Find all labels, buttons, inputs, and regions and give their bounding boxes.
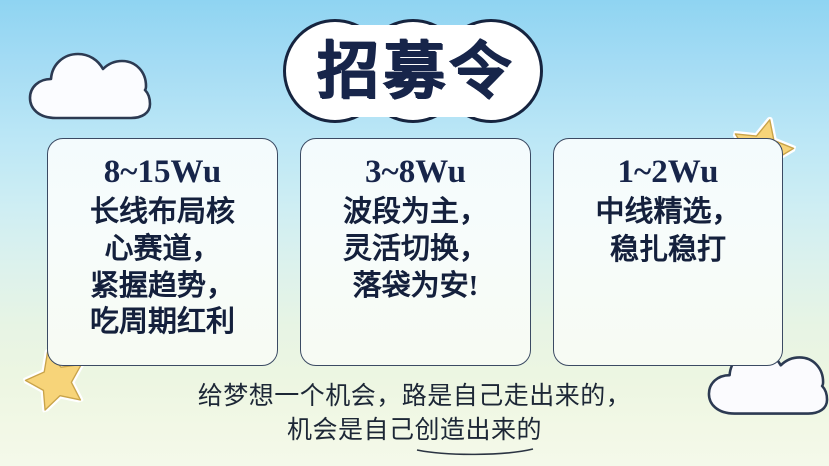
cloud-icon bbox=[26, 44, 152, 134]
card-desc-line: 心赛道， bbox=[104, 233, 220, 265]
slogan-underline bbox=[416, 448, 534, 457]
card-desc-line: 灵活切换， bbox=[343, 233, 488, 265]
tier-card[interactable]: 1~2Wu 中线精选， 稳扎稳打 bbox=[553, 138, 783, 366]
card-desc-line: 吃周期红利 bbox=[90, 306, 235, 338]
poster-title: 招募令 bbox=[283, 16, 549, 128]
slogan-line-2: 机会是自己创造出来的 bbox=[0, 414, 829, 448]
tier-card[interactable]: 8~15Wu 长线布局核 心赛道， 紧握趋势， 吃周期红利 bbox=[47, 138, 278, 366]
card-description: 中线精选， 稳扎稳打 bbox=[589, 194, 746, 269]
recruitment-poster: 招募令 8~15Wu 长线布局核 心赛道， 紧握趋势， 吃周期红利 3~8Wu … bbox=[0, 0, 829, 466]
card-description: 波段为主， 灵活切换， 落袋为安! bbox=[337, 194, 494, 304]
tier-card[interactable]: 3~8Wu 波段为主， 灵活切换， 落袋为安! bbox=[300, 138, 531, 366]
card-desc-line: 长线布局核 bbox=[90, 196, 235, 228]
card-desc-line: 落袋为安! bbox=[353, 270, 479, 302]
card-desc-line: 波段为主， bbox=[343, 196, 488, 228]
card-description: 长线布局核 心赛道， 紧握趋势， 吃周期红利 bbox=[84, 194, 241, 341]
card-desc-line: 中线精选， bbox=[595, 196, 740, 228]
card-amount: 8~15Wu bbox=[104, 153, 221, 192]
card-amount: 1~2Wu bbox=[618, 153, 719, 192]
title-text: 招募令 bbox=[283, 16, 549, 128]
slogan: 给梦想一个机会，路是自己走出来的， 机会是自己创造出来的 bbox=[0, 380, 829, 448]
slogan-line-1: 给梦想一个机会，路是自己走出来的， bbox=[0, 380, 829, 414]
card-desc-line: 紧握趋势， bbox=[90, 270, 235, 302]
card-desc-line: 稳扎稳打 bbox=[610, 234, 726, 266]
card-amount: 3~8Wu bbox=[365, 153, 466, 192]
